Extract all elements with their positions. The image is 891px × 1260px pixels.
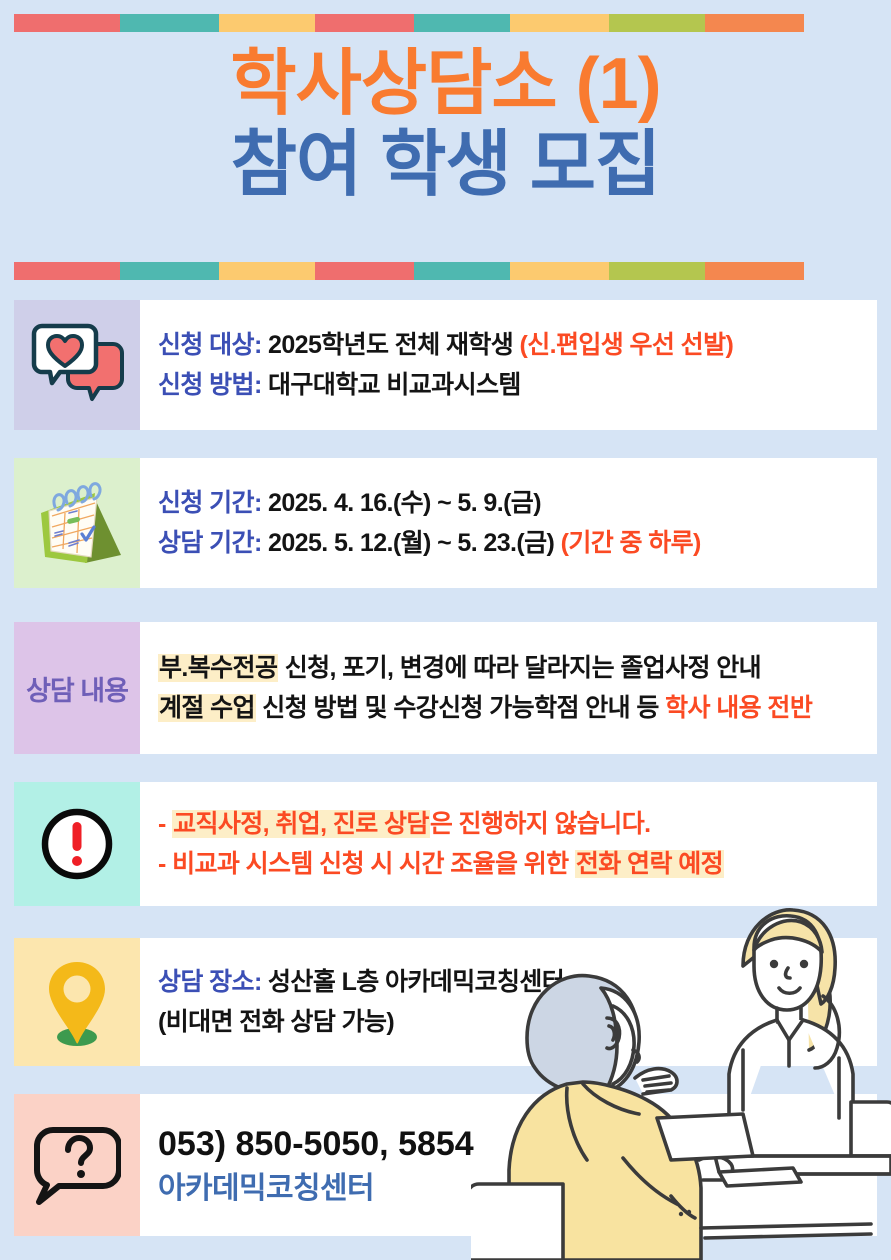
counseling-period-accent: (기간 중 하루) xyxy=(561,529,701,557)
topics-text: 부.복수전공 신청, 포기, 변경에 따라 달라지는 졸업사정 안내 계절 수업… xyxy=(140,622,877,754)
contact-text: 053) 850-5050, 5854 아카데믹코칭센터 xyxy=(140,1094,877,1236)
period-text: 신청 기간: 2025. 4. 16.(수) ~ 5. 9.(금) 상담 기간:… xyxy=(140,458,877,588)
title-line-2: 참여 학생 모집 xyxy=(0,125,891,206)
stripe-segment-4 xyxy=(414,14,511,32)
stripe-segment-7 xyxy=(705,14,803,32)
speech-bubbles-heart-icon xyxy=(29,320,125,410)
title-line-1: 학사상담소 (1) xyxy=(0,44,891,125)
info-row-topics: 상담 내용 부.복수전공 신청, 포기, 변경에 따라 달라지는 졸업사정 안내… xyxy=(14,622,877,754)
stripe-segment-1 xyxy=(120,262,218,280)
notice-2-dash: - xyxy=(158,850,172,878)
topic-line-2: 계절 수업 신청 방법 및 수강신청 가능학점 안내 등 학사 내용 전반 xyxy=(158,692,863,725)
application-target-accent: (신.편입생 우선 선발) xyxy=(520,331,734,359)
place-text: 상담 장소: 성산홀 L층 아카데믹코칭센터 (비대면 전화 상담 가능) xyxy=(140,938,877,1066)
decorative-stripe-bottom xyxy=(14,262,877,280)
notice-2-highlight: 전화 연락 예정 xyxy=(575,850,724,878)
stripe-segment-2 xyxy=(219,262,316,280)
application-method-label: 신청 방법: xyxy=(158,371,262,399)
question-bubble-icon-panel xyxy=(14,1094,140,1236)
notice-1-highlight: 교직사정, 취업, 진로 상담 xyxy=(172,810,430,838)
desk-calendar-icon-panel xyxy=(14,458,140,588)
speech-bubbles-heart-icon-panel xyxy=(14,300,140,430)
stripe-segment-0 xyxy=(14,262,120,280)
stripe-segment-6 xyxy=(609,262,706,280)
counseling-period-line: 상담 기간: 2025. 5. 12.(월) ~ 5. 23.(금) (기간 중… xyxy=(158,527,863,560)
application-text: 신청 대상: 2025학년도 전체 재학생 (신.편입생 우선 선발) 신청 방… xyxy=(140,300,877,430)
question-speech-bubble-icon xyxy=(33,1122,121,1208)
info-row-notice: - 교직사정, 취업, 진로 상담은 진행하지 않습니다. - 비교과 시스템 … xyxy=(14,782,877,906)
exclamation-icon-panel xyxy=(14,782,140,906)
info-row-application: 신청 대상: 2025학년도 전체 재학생 (신.편입생 우선 선발) 신청 방… xyxy=(14,300,877,430)
desk-calendar-icon xyxy=(25,477,129,569)
notice-1-dash: - xyxy=(158,810,172,838)
topic-line-1: 부.복수전공 신청, 포기, 변경에 따라 달라지는 졸업사정 안내 xyxy=(158,652,863,685)
place-line-1: 상담 장소: 성산홀 L층 아카데믹코칭센터 xyxy=(158,966,863,999)
application-method-line: 신청 방법: 대구대학교 비교과시스템 xyxy=(158,369,863,402)
notice-line-1: - 교직사정, 취업, 진로 상담은 진행하지 않습니다. xyxy=(158,808,863,841)
application-method-value: 대구대학교 비교과시스템 xyxy=(268,371,521,399)
stripe-segment-2 xyxy=(219,14,316,32)
place-line-2: (비대면 전화 상담 가능) xyxy=(158,1006,863,1039)
place-label: 상담 장소: xyxy=(158,968,262,996)
exclamation-circle-icon xyxy=(38,805,116,883)
notice-2-plain: 비교과 시스템 신청 시 시간 조율을 위한 xyxy=(172,850,575,878)
counseling-period-label: 상담 기간: xyxy=(158,529,262,557)
info-row-period: 신청 기간: 2025. 4. 16.(수) ~ 5. 9.(금) 상담 기간:… xyxy=(14,458,877,588)
topics-label-panel: 상담 내용 xyxy=(14,622,140,754)
topic-1-rest: 신청, 포기, 변경에 따라 달라지는 졸업사정 안내 xyxy=(278,654,761,682)
application-target-label: 신청 대상: xyxy=(158,331,262,359)
counseling-period-value: 2025. 5. 12.(월) ~ 5. 23.(금) xyxy=(268,529,554,557)
stripe-segment-1 xyxy=(120,14,218,32)
topics-label: 상담 내용 xyxy=(26,669,128,708)
place-note: (비대면 전화 상담 가능) xyxy=(158,1008,394,1036)
notice-1-rest: 은 진행하지 않습니다. xyxy=(430,810,651,838)
topic-2-accent: 학사 내용 전반 xyxy=(665,694,812,722)
application-period-line: 신청 기간: 2025. 4. 16.(수) ~ 5. 9.(금) xyxy=(158,487,863,520)
application-period-value: 2025. 4. 16.(수) ~ 5. 9.(금) xyxy=(268,489,541,517)
stripe-segment-7 xyxy=(705,262,803,280)
stripe-segment-3 xyxy=(315,262,413,280)
contact-phone: 053) 850-5050, 5854 xyxy=(158,1123,863,1166)
decorative-stripe-top xyxy=(14,14,877,32)
info-row-place: 상담 장소: 성산홀 L층 아카데믹코칭센터 (비대면 전화 상담 가능) xyxy=(14,938,877,1066)
stripe-segment-3 xyxy=(315,14,413,32)
stripe-segment-5 xyxy=(510,14,608,32)
application-target-value: 2025학년도 전체 재학생 xyxy=(268,331,513,359)
stripe-segment-6 xyxy=(609,14,706,32)
stripe-segment-5 xyxy=(510,262,608,280)
topic-1-highlight: 부.복수전공 xyxy=(158,654,278,682)
stripe-segment-0 xyxy=(14,14,120,32)
application-period-label: 신청 기간: xyxy=(158,489,262,517)
topic-2-highlight: 계절 수업 xyxy=(158,694,256,722)
info-row-contact: 053) 850-5050, 5854 아카데믹코칭센터 xyxy=(14,1094,877,1236)
notice-text: - 교직사정, 취업, 진로 상담은 진행하지 않습니다. - 비교과 시스템 … xyxy=(140,782,877,906)
stripe-segment-4 xyxy=(414,262,511,280)
page-title: 학사상담소 (1) 참여 학생 모집 xyxy=(0,44,891,205)
notice-line-2: - 비교과 시스템 신청 시 시간 조율을 위한 전화 연락 예정 xyxy=(158,848,863,881)
poster: 학사상담소 (1) 참여 학생 모집 신청 대상: 2025학년도 전체 재학생… xyxy=(0,0,891,1260)
application-target-line: 신청 대상: 2025학년도 전체 재학생 (신.편입생 우선 선발) xyxy=(158,329,863,362)
map-pin-icon xyxy=(38,954,116,1050)
place-value: 성산홀 L층 아카데믹코칭센터 xyxy=(268,968,564,996)
contact-center-name: 아카데믹코칭센터 xyxy=(158,1170,863,1208)
map-pin-icon-panel xyxy=(14,938,140,1066)
topic-2-rest: 신청 방법 및 수강신청 가능학점 안내 등 xyxy=(256,694,665,722)
